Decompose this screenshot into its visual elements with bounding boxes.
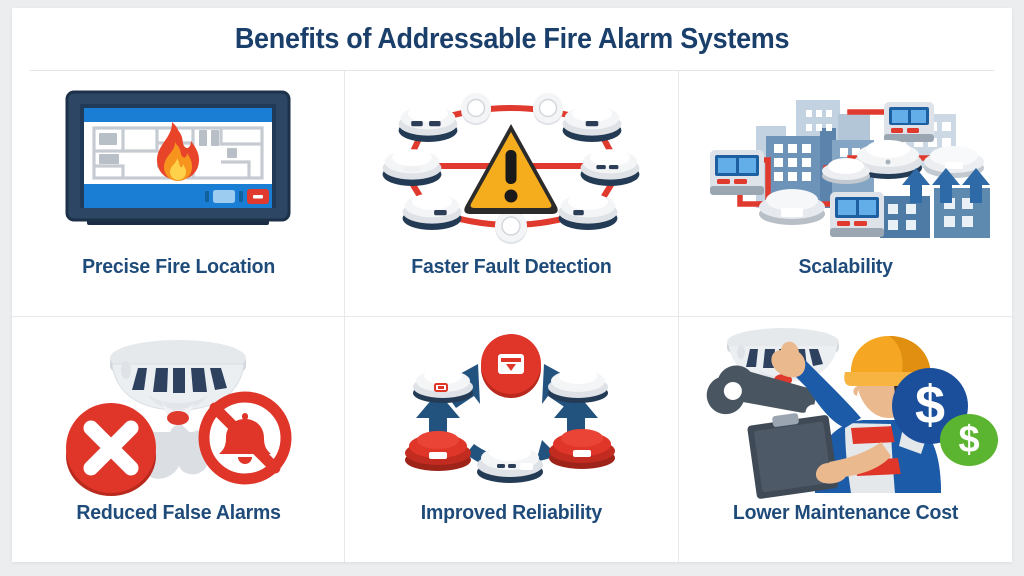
detector-cycle-graphic [386, 328, 636, 493]
benefit-cell-improved-reliability[interactable]: Improved Reliability [345, 317, 678, 563]
technician-savings-icon: $ $ [689, 331, 1002, 491]
title-bar: Benefits of Addressable Fire Alarm Syste… [12, 8, 1012, 70]
benefit-cell-scalability[interactable]: Scalability [679, 71, 1012, 317]
benefit-label-faster-fault-detection: Faster Fault Detection [411, 255, 611, 279]
detector-no-alarm-graphic [53, 328, 303, 493]
no-bell-badge [204, 397, 286, 479]
technician-savings-graphic: $ $ [695, 328, 995, 493]
detector-no-alarm-icon [22, 331, 334, 491]
clipboard [747, 413, 839, 499]
monitor-floorplan-fire-graphic [53, 88, 303, 243]
benefit-cell-reduced-false-alarms[interactable]: Reduced False Alarms [12, 317, 345, 563]
infographic-card: Benefits of Addressable Fire Alarm Syste… [12, 8, 1012, 562]
monitor-floorplan-fire-icon [22, 85, 334, 245]
benefit-cell-faster-fault-detection[interactable]: Faster Fault Detection [345, 71, 678, 317]
detector-loop-warning-graphic [376, 88, 646, 243]
page-title: Benefits of Addressable Fire Alarm Syste… [235, 23, 789, 56]
detector-loop-warning-icon [355, 85, 667, 245]
benefits-grid: Precise Fire Location [12, 71, 1012, 562]
svg-text:$: $ [915, 375, 945, 435]
benefit-label-reduced-false-alarms: Reduced False Alarms [76, 501, 280, 525]
up-arrows [902, 168, 990, 203]
svg-text:$: $ [959, 419, 980, 461]
dollar-coin-green: $ [940, 414, 998, 466]
detector-cycle-arrows-icon [355, 331, 667, 491]
benefit-label-improved-reliability: Improved Reliability [421, 501, 602, 525]
benefit-label-scalability: Scalability [798, 255, 892, 279]
benefit-label-lower-maintenance-cost: Lower Maintenance Cost [733, 501, 958, 525]
benefit-cell-lower-maintenance-cost[interactable]: $ $ Lower Maintenance Cost [679, 317, 1012, 563]
benefit-cell-precise-fire-location[interactable]: Precise Fire Location [12, 71, 345, 317]
benefit-label-precise-fire-location: Precise Fire Location [82, 255, 275, 279]
buildings-network-arrows-icon [689, 85, 1002, 245]
red-x-badge [66, 403, 156, 496]
buildings-network-graphic [700, 88, 990, 243]
